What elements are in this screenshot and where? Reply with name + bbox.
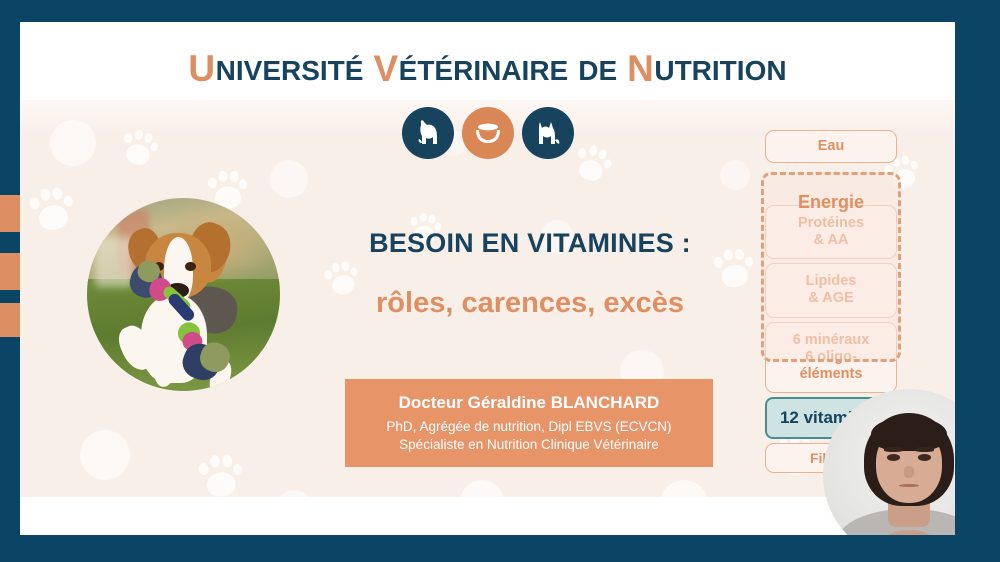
nutrient-proteines-line1: Protéines <box>770 215 892 232</box>
speaker-name: Docteur Géraldine BLANCHARD <box>399 393 660 413</box>
orange-stripe-3 <box>0 303 20 337</box>
bottom-border <box>0 535 1000 562</box>
left-decorative-bar <box>0 0 20 562</box>
dog-photo <box>87 198 280 391</box>
speaker-credentials: PhD, Agrégée de nutrition, Dipl EBVS (EC… <box>386 418 671 435</box>
nutrient-mineraux-line1: 6 minéraux <box>770 332 892 349</box>
slide-subtitle: rôles, carences, excès <box>300 287 760 320</box>
presentation-slide: UNIVERSITÉVÉTÉRINAIREDENUTRITION <box>0 0 1000 562</box>
nutrient-item-lipides: Lipides & AGE <box>765 263 897 317</box>
title-word-de: DE <box>578 55 617 86</box>
slide-main-title: BESOIN EN VITAMINES : <box>320 228 740 259</box>
nutrient-mineraux-line2: 6 oligo- <box>770 349 892 366</box>
speaker-specialty: Spécialiste en Nutrition Clinique Vétéri… <box>399 436 659 453</box>
nutrient-lipides-line2: & AGE <box>770 290 892 307</box>
title-word-veterinaire: ÉTÉRINAIRE <box>399 55 569 86</box>
right-border <box>955 0 1000 562</box>
nutrient-item-energie: Energie <box>761 192 901 213</box>
cat-icon <box>522 107 574 159</box>
nutrient-lipides-line1: Lipides <box>770 273 892 290</box>
title-word-nutrition: UTRITION <box>654 55 786 86</box>
nutrient-mineraux-line3: éléments <box>770 366 892 383</box>
logo-row <box>20 107 955 159</box>
page-title: UNIVERSITÉVÉTÉRINAIREDENUTRITION <box>20 50 955 87</box>
title-word-universite: NIVERSITÉ <box>216 55 364 86</box>
orange-stripe-2 <box>0 253 20 290</box>
nutrient-item-proteines: Protéines & AA <box>765 205 897 259</box>
orange-stripe-1 <box>0 195 20 232</box>
nutrient-proteines-line2: & AA <box>770 232 892 249</box>
food-bowl-paw-icon <box>462 107 514 159</box>
dog-icon <box>402 107 454 159</box>
nutrient-item-mineraux: 6 minéraux 6 oligo- éléments <box>765 322 897 393</box>
speaker-info-box: Docteur Géraldine BLANCHARD PhD, Agrégée… <box>345 379 713 467</box>
slide-canvas: UNIVERSITÉVÉTÉRINAIREDENUTRITION <box>20 22 955 535</box>
title-initial-n: N <box>627 48 654 89</box>
title-initial-u: U <box>188 48 215 89</box>
title-initial-v: V <box>373 48 398 89</box>
